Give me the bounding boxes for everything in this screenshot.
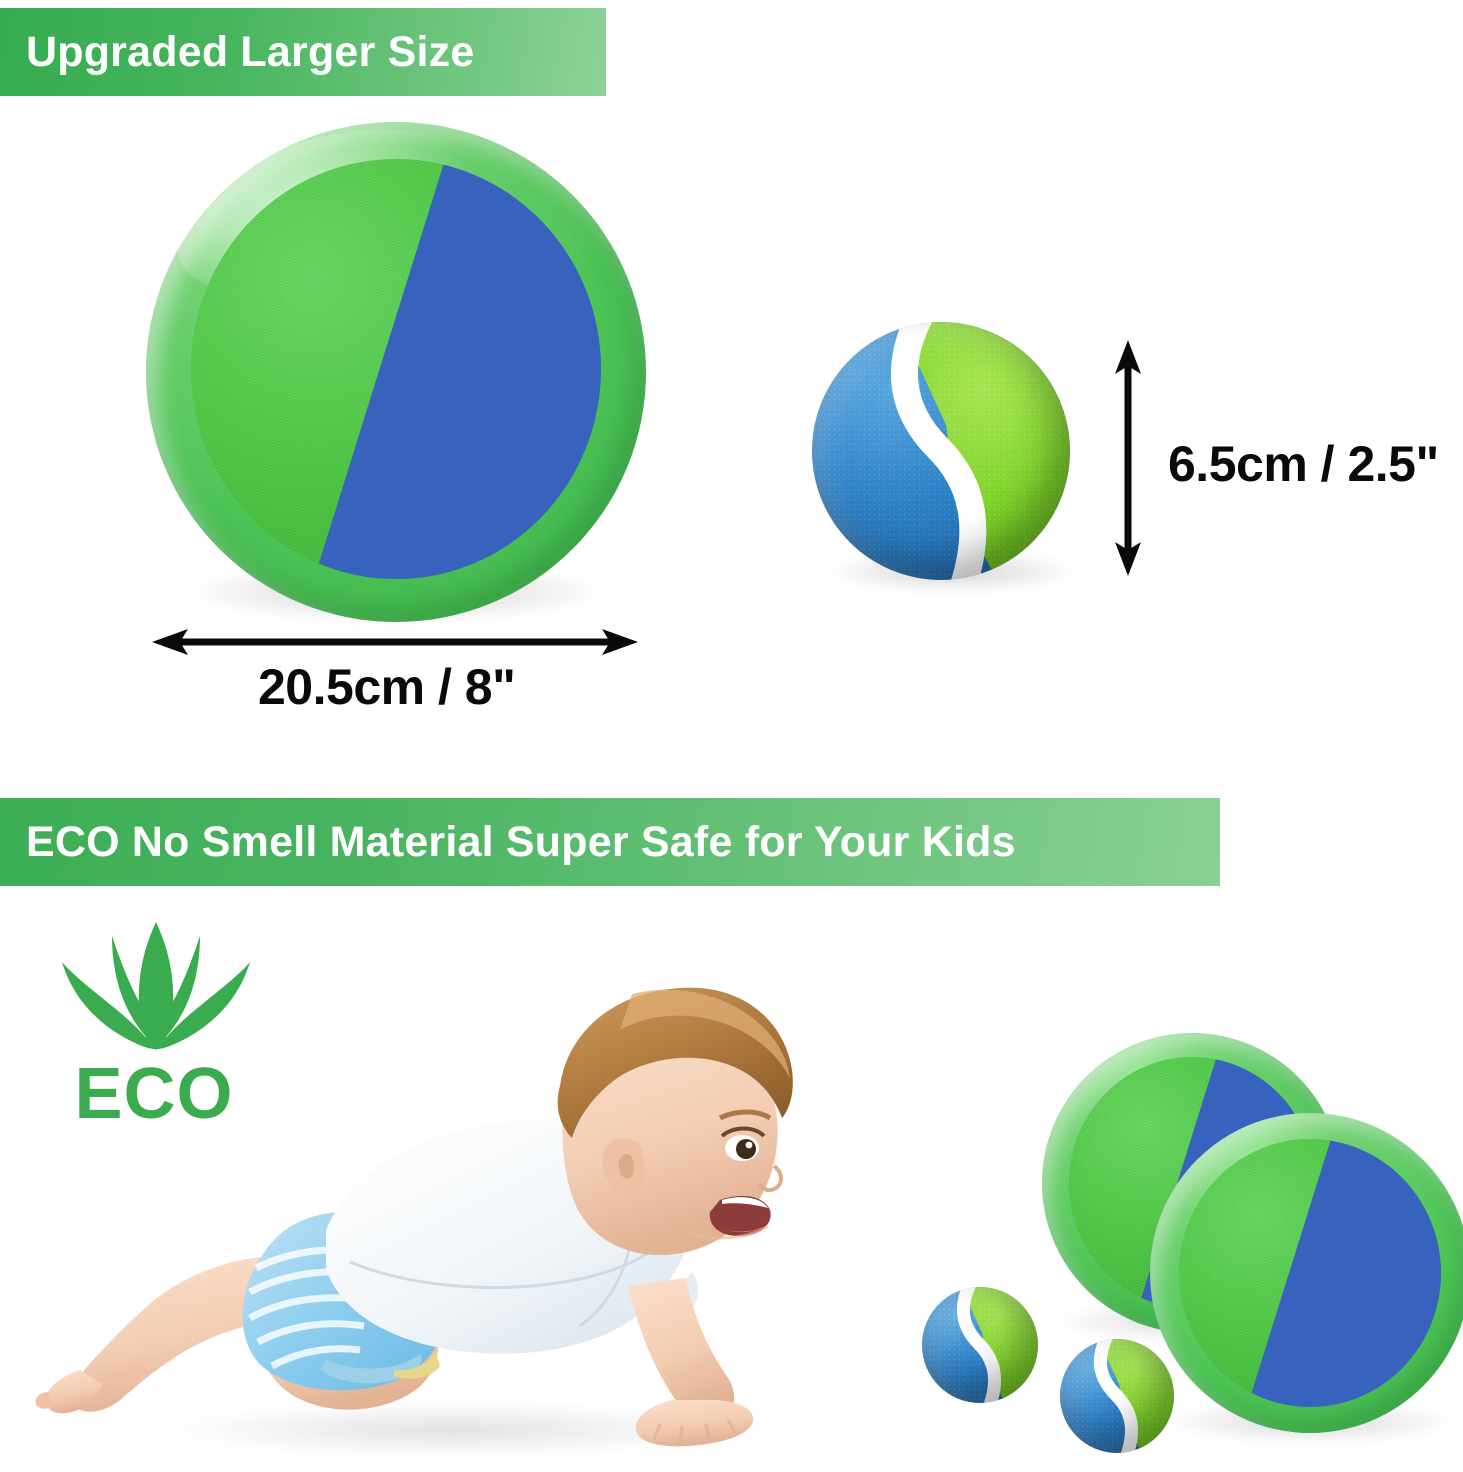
small-ball-1 [922,1287,1042,1415]
baby-head [558,988,793,1255]
hero-ball-image [812,322,1092,602]
banner-upgraded-larger-size: Upgraded Larger Size [0,8,606,96]
paddle-dimension-label: 20.5cm / 8" [258,658,515,716]
ball-dimension-label: 6.5cm / 2.5" [1168,435,1439,493]
ball-shading [812,322,1070,580]
ball-dimension-arrow [1096,338,1160,578]
small-ball-1-body [922,1287,1038,1403]
small-ball-2 [1060,1339,1180,1467]
paddle-velcro-surface [191,159,601,579]
product-set-image [900,1015,1463,1472]
paddle-front [1150,1113,1463,1433]
crawling-baby-photo [20,930,920,1470]
banner-eco-text: ECO No Smell Material Super Safe for You… [26,818,1016,867]
small-ball-2-shading [1060,1339,1174,1453]
paddle-front-velcro [1179,1139,1441,1407]
ball-body [812,322,1070,580]
baby-front-arm [628,1278,753,1446]
banner-eco-no-smell: ECO No Smell Material Super Safe for You… [0,798,1220,886]
small-ball-2-body [1060,1339,1174,1453]
small-ball-1-shading [922,1287,1038,1403]
banner-upgraded-text: Upgraded Larger Size [26,28,474,77]
hero-paddle-image [146,122,646,622]
